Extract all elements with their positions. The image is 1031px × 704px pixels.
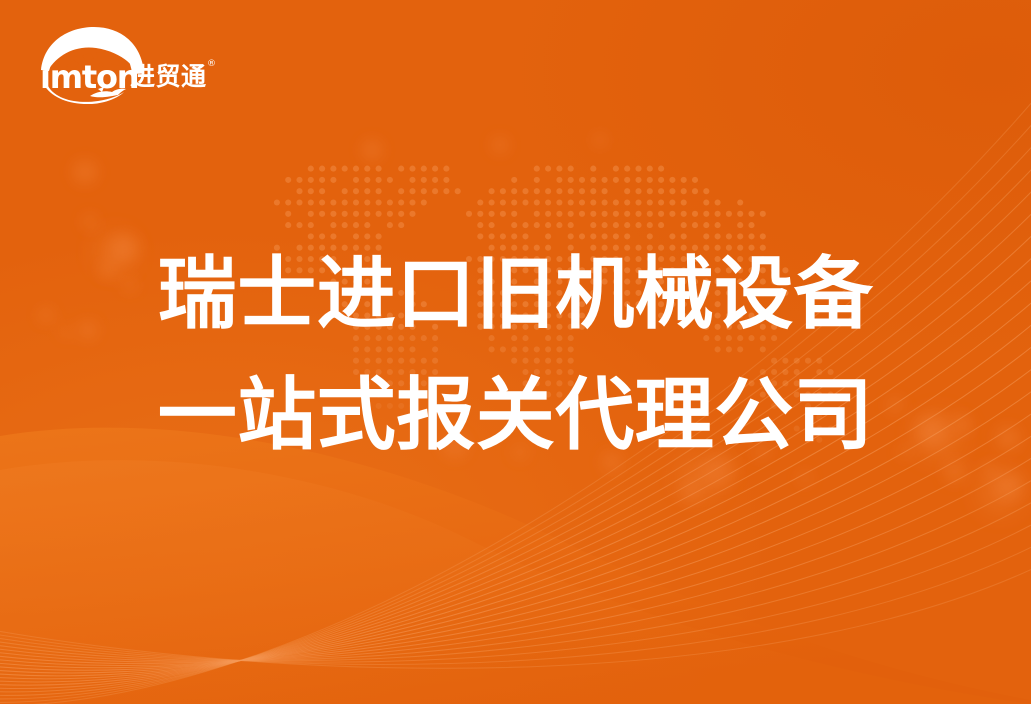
headline-line-1: 瑞士进口旧机械设备: [0, 232, 1031, 357]
banner-canvas: imton 进贸通 ® 瑞士进口旧机械设备 一站式报关代理公司: [0, 0, 1031, 704]
headline-block: 瑞士进口旧机械设备 一站式报关代理公司: [0, 232, 1031, 478]
imton-logo-svg: imton 进贸通 ®: [38, 26, 228, 104]
imton-chinese-name: 进贸通: [130, 62, 207, 91]
registered-trademark-icon: ®: [207, 59, 216, 69]
imton-logo[interactable]: imton 进贸通 ®: [38, 26, 228, 104]
headline-line-2: 一站式报关代理公司: [0, 353, 1031, 478]
